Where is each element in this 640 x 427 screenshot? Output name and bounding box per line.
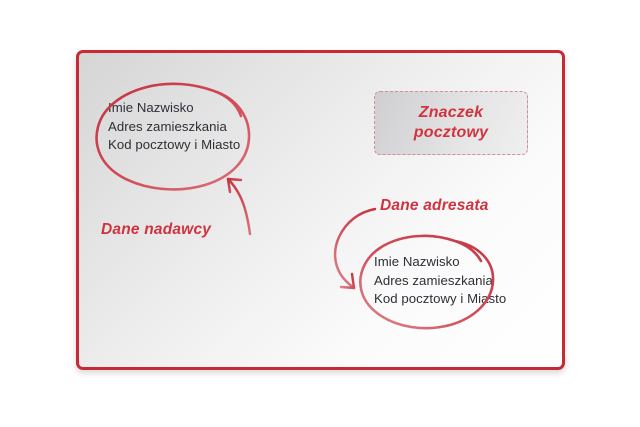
recipient-address-line-3: Kod pocztowy i Miasto	[374, 290, 506, 309]
recipient-address-line-1: Imie Nazwisko	[374, 253, 506, 272]
sender-label: Dane nadawcy	[101, 221, 211, 239]
sender-address-line-1: Imie Nazwisko	[108, 99, 240, 118]
recipient-address-line-2: Adres zamieszkania	[374, 272, 506, 291]
stamp-label-line-1: Znaczek	[419, 103, 484, 123]
sender-address-line-2: Adres zamieszkania	[108, 118, 240, 137]
recipient-label: Dane adresata	[380, 197, 489, 215]
sender-address-line-3: Kod pocztowy i Miasto	[108, 136, 240, 155]
sender-address-block: Imie Nazwisko Adres zamieszkania Kod poc…	[108, 99, 240, 155]
stamp-label-line-2: pocztowy	[414, 123, 489, 143]
recipient-address-block: Imie Nazwisko Adres zamieszkania Kod poc…	[374, 253, 506, 309]
stamp-placeholder-box: Znaczek pocztowy	[374, 91, 528, 155]
